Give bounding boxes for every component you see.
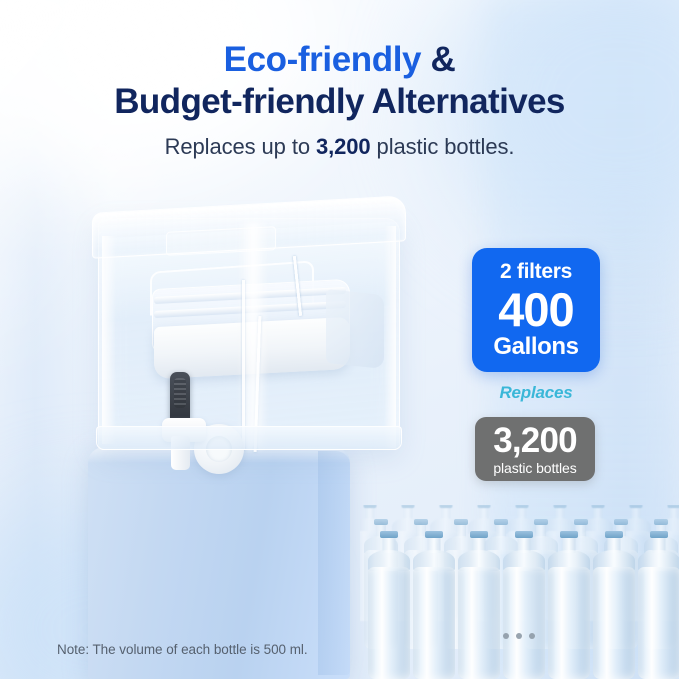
ellipsis-dot [529, 633, 535, 639]
tank-base [96, 426, 402, 450]
plastic-bottle [503, 531, 545, 679]
subtitle-suffix: plastic bottles. [371, 134, 515, 159]
headline-ampersand: & [421, 40, 455, 79]
badge-gallons-number: 400 [498, 286, 573, 333]
tank-right-edge [384, 226, 396, 448]
replaces-label: Replaces [472, 383, 600, 403]
ellipsis-dot [503, 633, 509, 639]
badge-filters-label: 2 filters [500, 261, 572, 282]
tank-vertical-highlight [238, 222, 268, 448]
badge-bottles-unit: plastic bottles [493, 461, 576, 475]
plastic-bottle [593, 531, 635, 679]
plastic-bottle [458, 531, 500, 679]
bottles-ellipsis [503, 633, 535, 639]
subtitle-number: 3,200 [316, 134, 371, 159]
bottle-body [548, 567, 590, 679]
bottle-body [593, 567, 635, 679]
bottle-body [458, 567, 500, 679]
plastic-bottle [548, 531, 590, 679]
bottle-body [503, 567, 545, 679]
footnote: Note: The volume of each bottle is 500 m… [57, 642, 308, 657]
headline-eco-friendly: Eco-friendly [224, 40, 421, 79]
bottle-body [413, 567, 455, 679]
bottle-body [638, 567, 679, 679]
bottle-cap [560, 531, 578, 538]
bottle-cap [380, 531, 398, 538]
plastic-bottle [368, 531, 410, 679]
water-dispenser-product [88, 196, 410, 458]
bottle-cap [605, 531, 623, 538]
headline-line-1: Eco-friendly & [0, 40, 679, 79]
plastic-bottle [638, 531, 679, 679]
bottle-cap [650, 531, 668, 538]
bottle-cap [515, 531, 533, 538]
reservoir-side-panel [326, 289, 384, 369]
pedestal-side-edge [318, 451, 350, 675]
bottle-cap [470, 531, 488, 538]
bottle-body [368, 567, 410, 679]
subtitle-prefix: Replaces up to [165, 134, 316, 159]
bottle-cap [425, 531, 443, 538]
headline-block: Eco-friendly & Budget-friendly Alternati… [0, 40, 679, 160]
marketing-image: Eco-friendly & Budget-friendly Alternati… [0, 0, 679, 679]
headline-line-2: Budget-friendly Alternatives [0, 82, 679, 121]
plastic-bottle [413, 531, 455, 679]
plastic-bottles-row [360, 505, 679, 679]
badge-gallons-unit: Gallons [493, 335, 578, 359]
ellipsis-dot [516, 633, 522, 639]
filters-capacity-badge: 2 filters 400 Gallons [472, 248, 600, 372]
tank-left-highlight [102, 236, 116, 444]
badge-bottles-number: 3,200 [493, 423, 577, 458]
plastic-bottles-badge: 3,200 plastic bottles [475, 417, 595, 481]
headline-subtitle: Replaces up to 3,200 plastic bottles. [0, 134, 679, 160]
spigot-lever-grip [174, 378, 186, 408]
